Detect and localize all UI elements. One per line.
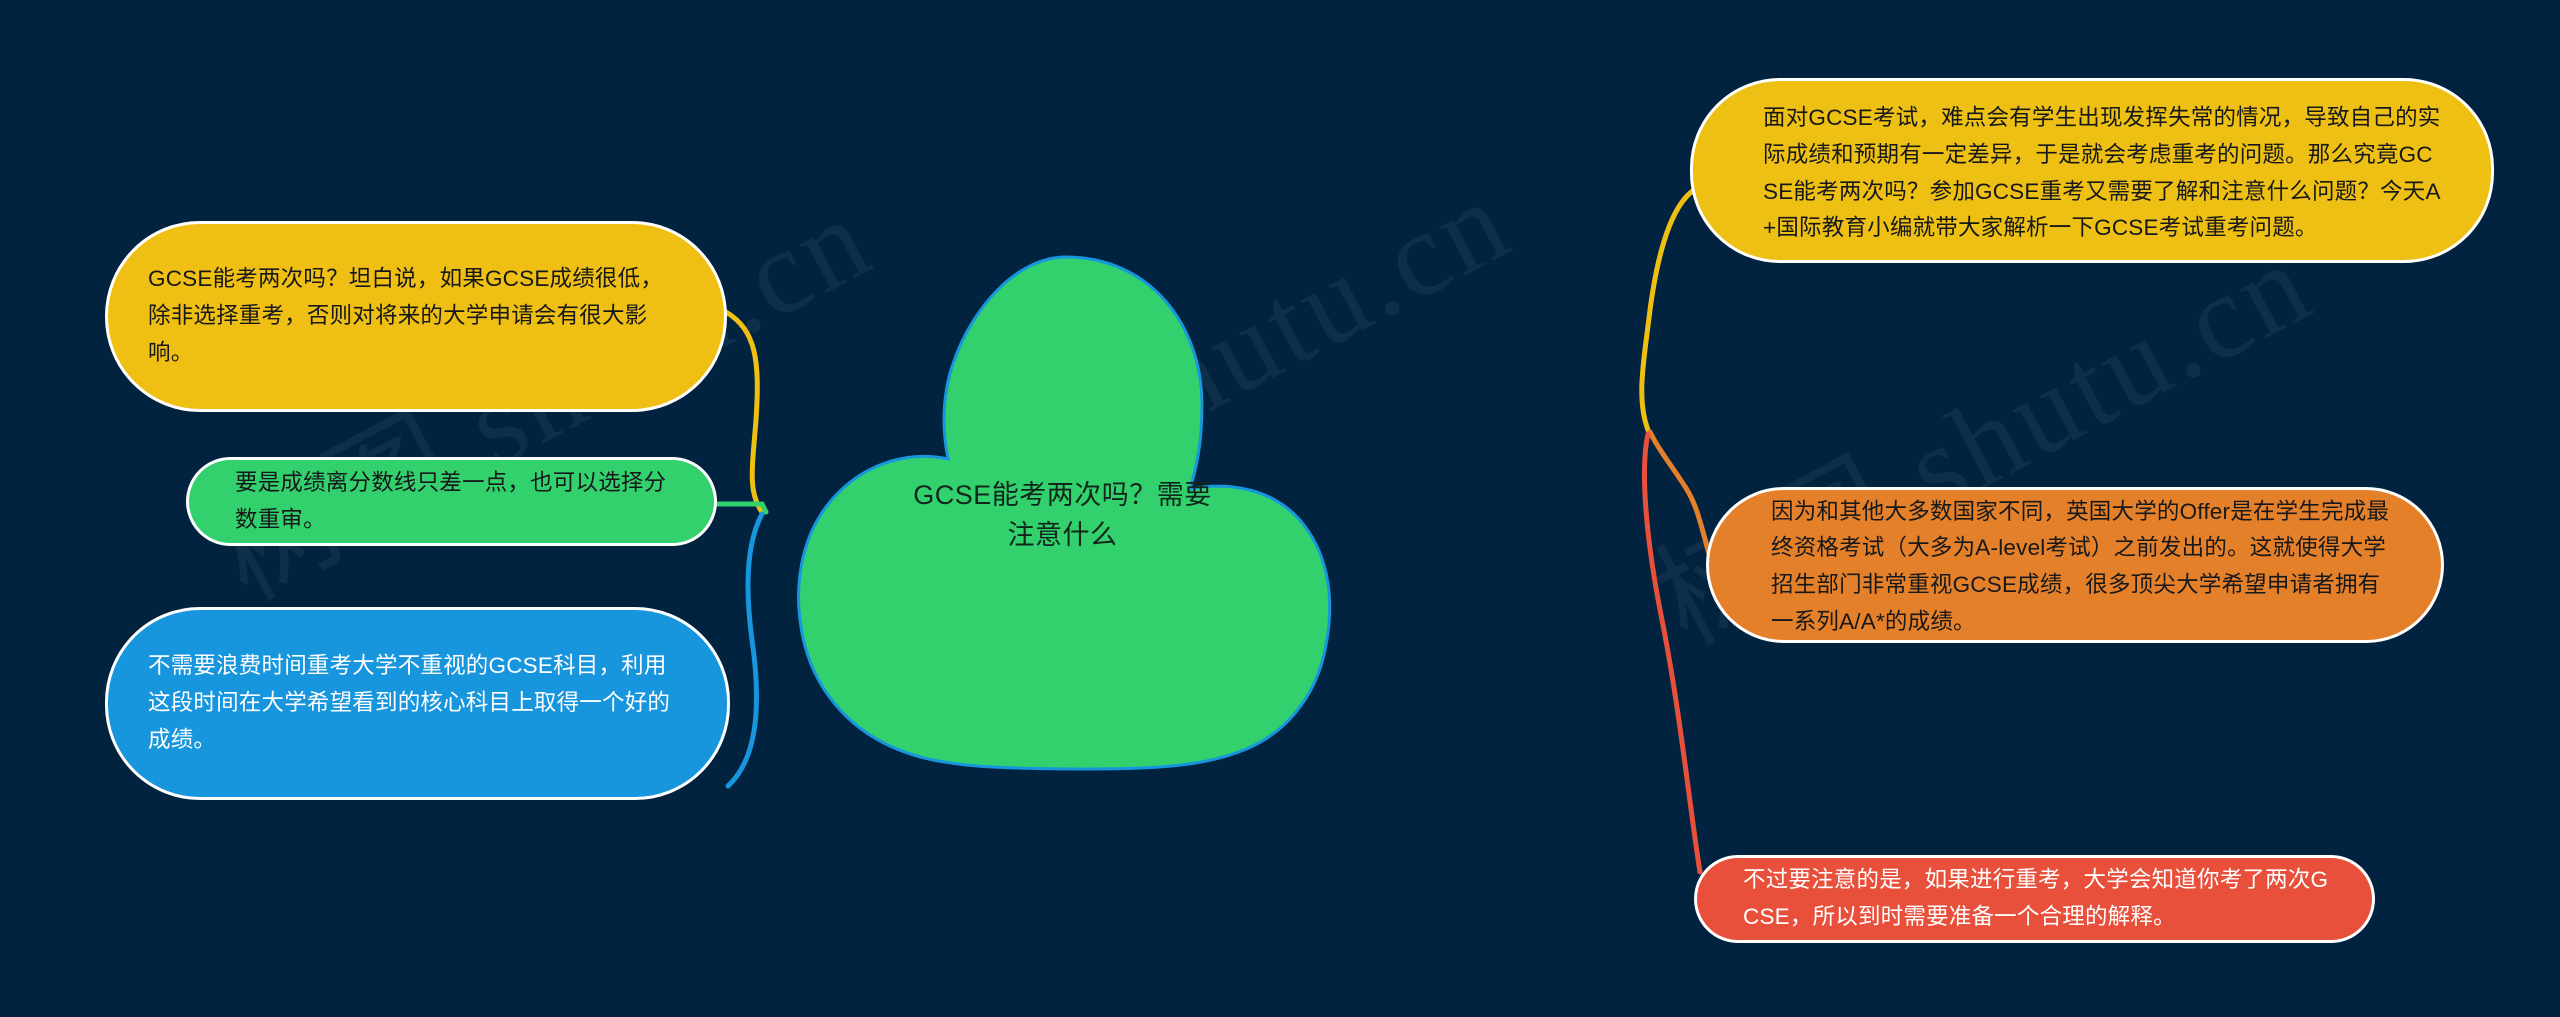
branch-node-right-red[interactable]: 不过要注意的是，如果进行重考，大学会知道你考了两次GCSE，所以到时需要准备一个… [1694,855,2375,943]
branch-text-right-red: 不过要注意的是，如果进行重考，大学会知道你考了两次GCSE，所以到时需要准备一个… [1743,862,2336,935]
connector-right-red [1644,434,1700,872]
branch-node-left-green[interactable]: 要是成绩离分数线只差一点，也可以选择分数重审。 [186,457,717,546]
connector-left-blue [728,514,762,786]
connector-right-orange [1650,432,1710,558]
connector-right-yellow [1642,190,1694,430]
branch-text-left-green: 要是成绩离分数线只差一点，也可以选择分数重审。 [235,465,680,538]
branch-node-left-yellow[interactable]: GCSE能考两次吗？坦白说，如果GCSE成绩很低，除非选择重考，否则对将来的大学… [105,221,727,412]
branch-node-left-blue[interactable]: 不需要浪费时间重考大学不重视的GCSE科目，利用这段时间在大学希望看到的核心科目… [105,607,730,800]
branch-node-right-yellow[interactable]: 面对GCSE考试，难点会有学生出现发挥失常的情况，导致自己的实际成绩和预期有一定… [1690,78,2494,263]
branch-text-left-yellow: GCSE能考两次吗？坦白说，如果GCSE成绩很低，除非选择重考，否则对将来的大学… [148,261,684,371]
branch-text-right-yellow: 面对GCSE考试，难点会有学生出现发挥失常的情况，导致自己的实际成绩和预期有一定… [1763,100,2443,247]
mindmap-canvas: 树图 shutu.cn shutu.cn 树图 shutu.cn GCSE能考两… [0,0,2560,1017]
connector-left-yellow [726,312,762,512]
central-node-label: GCSE能考两次吗？需要注意什么 [913,476,1213,554]
connector-left-green [716,504,766,512]
central-node[interactable]: GCSE能考两次吗？需要注意什么 [790,253,1335,778]
branch-node-right-orange[interactable]: 因为和其他大多数国家不同，英国大学的Offer是在学生完成最终资格考试（大多为A… [1706,487,2444,643]
branch-text-right-orange: 因为和其他大多数国家不同，英国大学的Offer是在学生完成最终资格考试（大多为A… [1771,494,2401,641]
branch-text-left-blue: 不需要浪费时间重考大学不重视的GCSE科目，利用这段时间在大学希望看到的核心科目… [148,648,687,758]
central-node-label-wrap: GCSE能考两次吗？需要注意什么 [790,253,1335,778]
